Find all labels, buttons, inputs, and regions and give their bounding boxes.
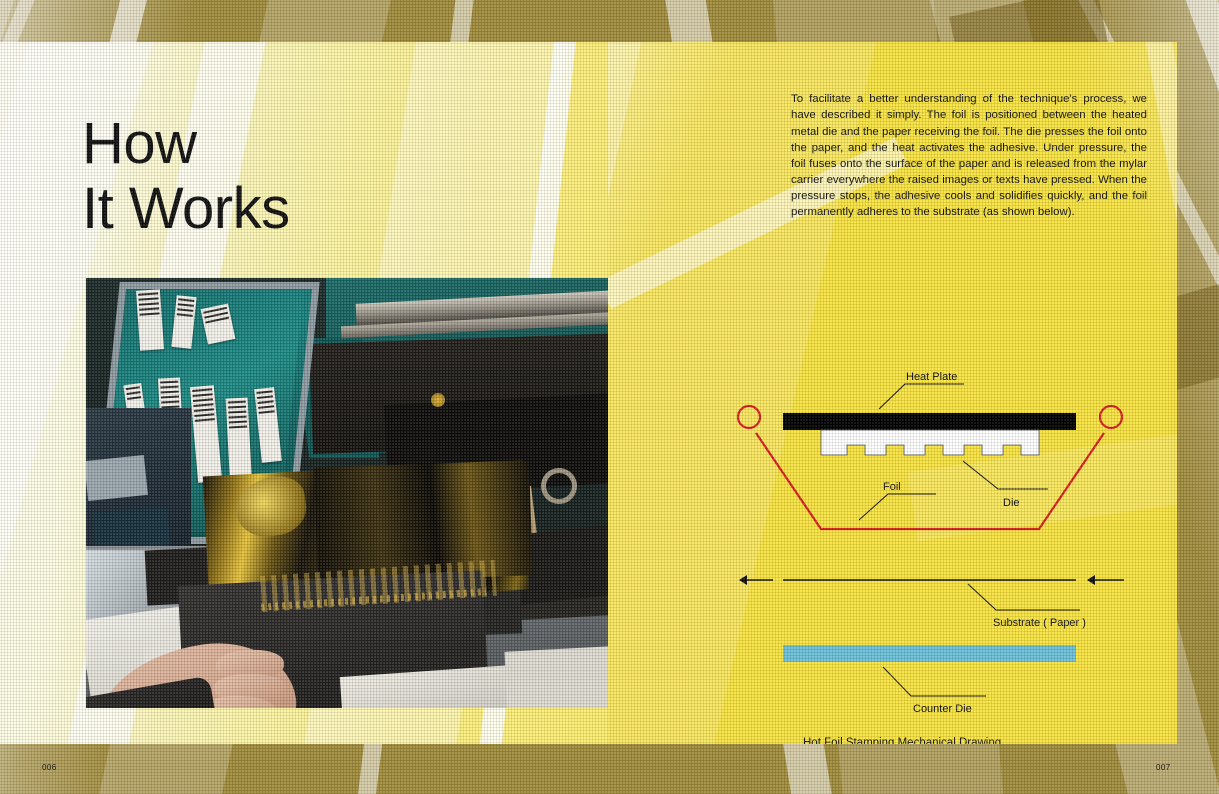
label-foil: Foil <box>883 481 901 493</box>
mechanical-diagram: Heat Plate Die <box>728 334 1168 744</box>
left-page: How It Works <box>0 42 608 744</box>
page-title: How It Works <box>82 111 290 242</box>
label-counter-die: Counter Die <box>913 703 972 715</box>
foil-leader <box>859 494 936 520</box>
heat-plate-bar <box>783 413 1076 430</box>
label-die: Die <box>1003 497 1020 509</box>
press-photograph <box>86 278 608 708</box>
folio-left: 006 <box>42 763 57 772</box>
folio-right: 007 <box>1156 763 1171 772</box>
die-leader <box>963 461 1048 489</box>
substrate-leader <box>968 584 1080 610</box>
label-heat-plate: Heat Plate <box>906 371 957 383</box>
counter-die-bar <box>783 645 1076 662</box>
foil-roller-right <box>1100 406 1122 428</box>
heat-plate-leader <box>879 384 964 409</box>
photo-grain-overlay <box>86 278 608 708</box>
die-block <box>821 430 1039 455</box>
diagram-caption: Hot Foil Stamping Mechanical Drawing <box>803 737 1001 744</box>
magazine-spread: How It Works <box>0 0 1219 794</box>
substrate-arrow-right <box>1087 575 1124 585</box>
foil-roller-left <box>738 406 760 428</box>
body-copy: To facilitate a better understanding of … <box>791 91 1147 220</box>
substrate-arrow-left <box>739 575 773 585</box>
label-substrate: Substrate ( Paper ) <box>993 617 1086 629</box>
foil-path <box>756 433 1104 529</box>
right-page: To facilitate a better understanding of … <box>608 42 1177 744</box>
counter-die-leader <box>883 667 986 696</box>
